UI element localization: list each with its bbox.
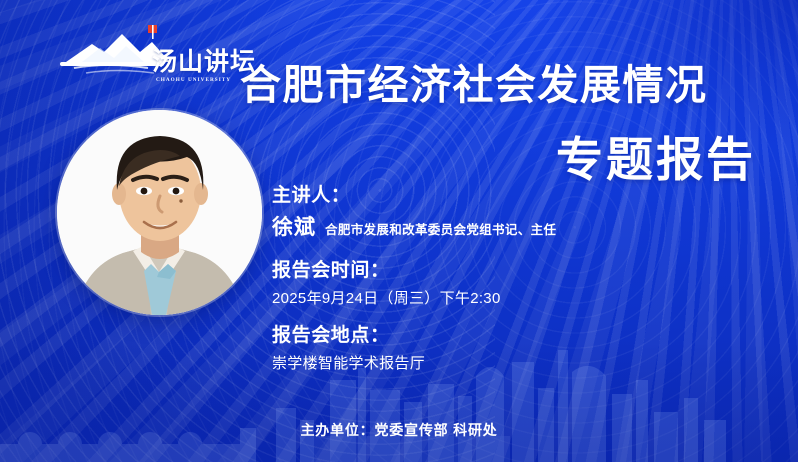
organizer-footer: 主办单位：党委宣传部 科研处 bbox=[0, 422, 798, 438]
brand-logo: 汤山讲坛 CHAOHU UNIVERSITY bbox=[52, 22, 264, 76]
speaker-portrait bbox=[57, 110, 262, 315]
logo-english-name: CHAOHU UNIVERSITY bbox=[156, 77, 231, 83]
time-value: 2025年9月24日（周三）下午2:30 bbox=[272, 290, 732, 307]
speaker-photo-illustration bbox=[57, 110, 262, 315]
event-info-block: 主讲人： 徐斌 合肥市发展和改革委员会党组书记、主任 报告会时间： 2025年9… bbox=[272, 186, 732, 372]
seminar-poster: 汤山讲坛 CHAOHU UNIVERSITY bbox=[0, 0, 798, 462]
speaker-name: 徐斌 bbox=[272, 217, 316, 239]
poster-title-line-1: 合肥市经济社会发展情况 bbox=[240, 62, 708, 108]
time-label: 报告会时间： bbox=[272, 261, 732, 280]
speaker-label: 主讲人： bbox=[272, 186, 732, 205]
poster-title-line-2: 专题报告 bbox=[556, 134, 756, 186]
speaker-row: 徐斌 合肥市发展和改革委员会党组书记、主任 bbox=[272, 217, 732, 239]
place-value: 崇学楼智能学术报告厅 bbox=[272, 355, 732, 372]
place-label: 报告会地点： bbox=[272, 326, 732, 345]
speaker-position: 合肥市发展和改革委员会党组书记、主任 bbox=[325, 223, 556, 237]
